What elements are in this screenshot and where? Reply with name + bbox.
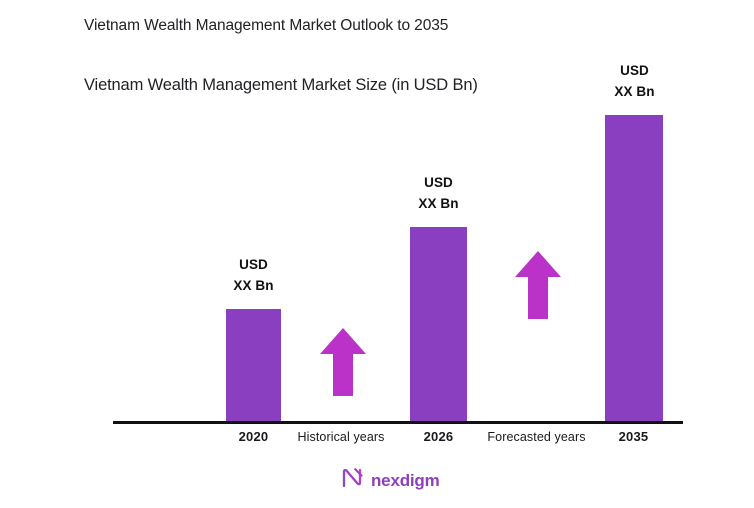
brand-logo-text: nexdigm — [371, 472, 440, 489]
x-tick-2035: 2035 — [591, 429, 676, 444]
bar-label-2020: USD XX Bn — [196, 255, 311, 297]
bar-chart: USD XX Bn USD XX Bn USD XX Bn 2020 Histo… — [0, 0, 754, 508]
phase-label-historical: Historical years — [281, 430, 401, 444]
phase-label-forecasted: Forecasted years — [474, 430, 599, 444]
bar-2020 — [226, 309, 281, 421]
bar-label-2035: USD XX Bn — [577, 61, 692, 103]
x-axis-line — [113, 421, 683, 424]
x-tick-2026: 2026 — [396, 429, 481, 444]
bar-label-2026: USD XX Bn — [381, 173, 496, 215]
bar-2035 — [605, 115, 663, 421]
growth-arrow-up-historical — [320, 328, 366, 396]
nexdigm-n-icon — [340, 466, 364, 495]
bar-2026 — [410, 227, 467, 421]
growth-arrow-up-forecasted — [515, 251, 561, 319]
brand-logo: nexdigm — [340, 466, 440, 495]
